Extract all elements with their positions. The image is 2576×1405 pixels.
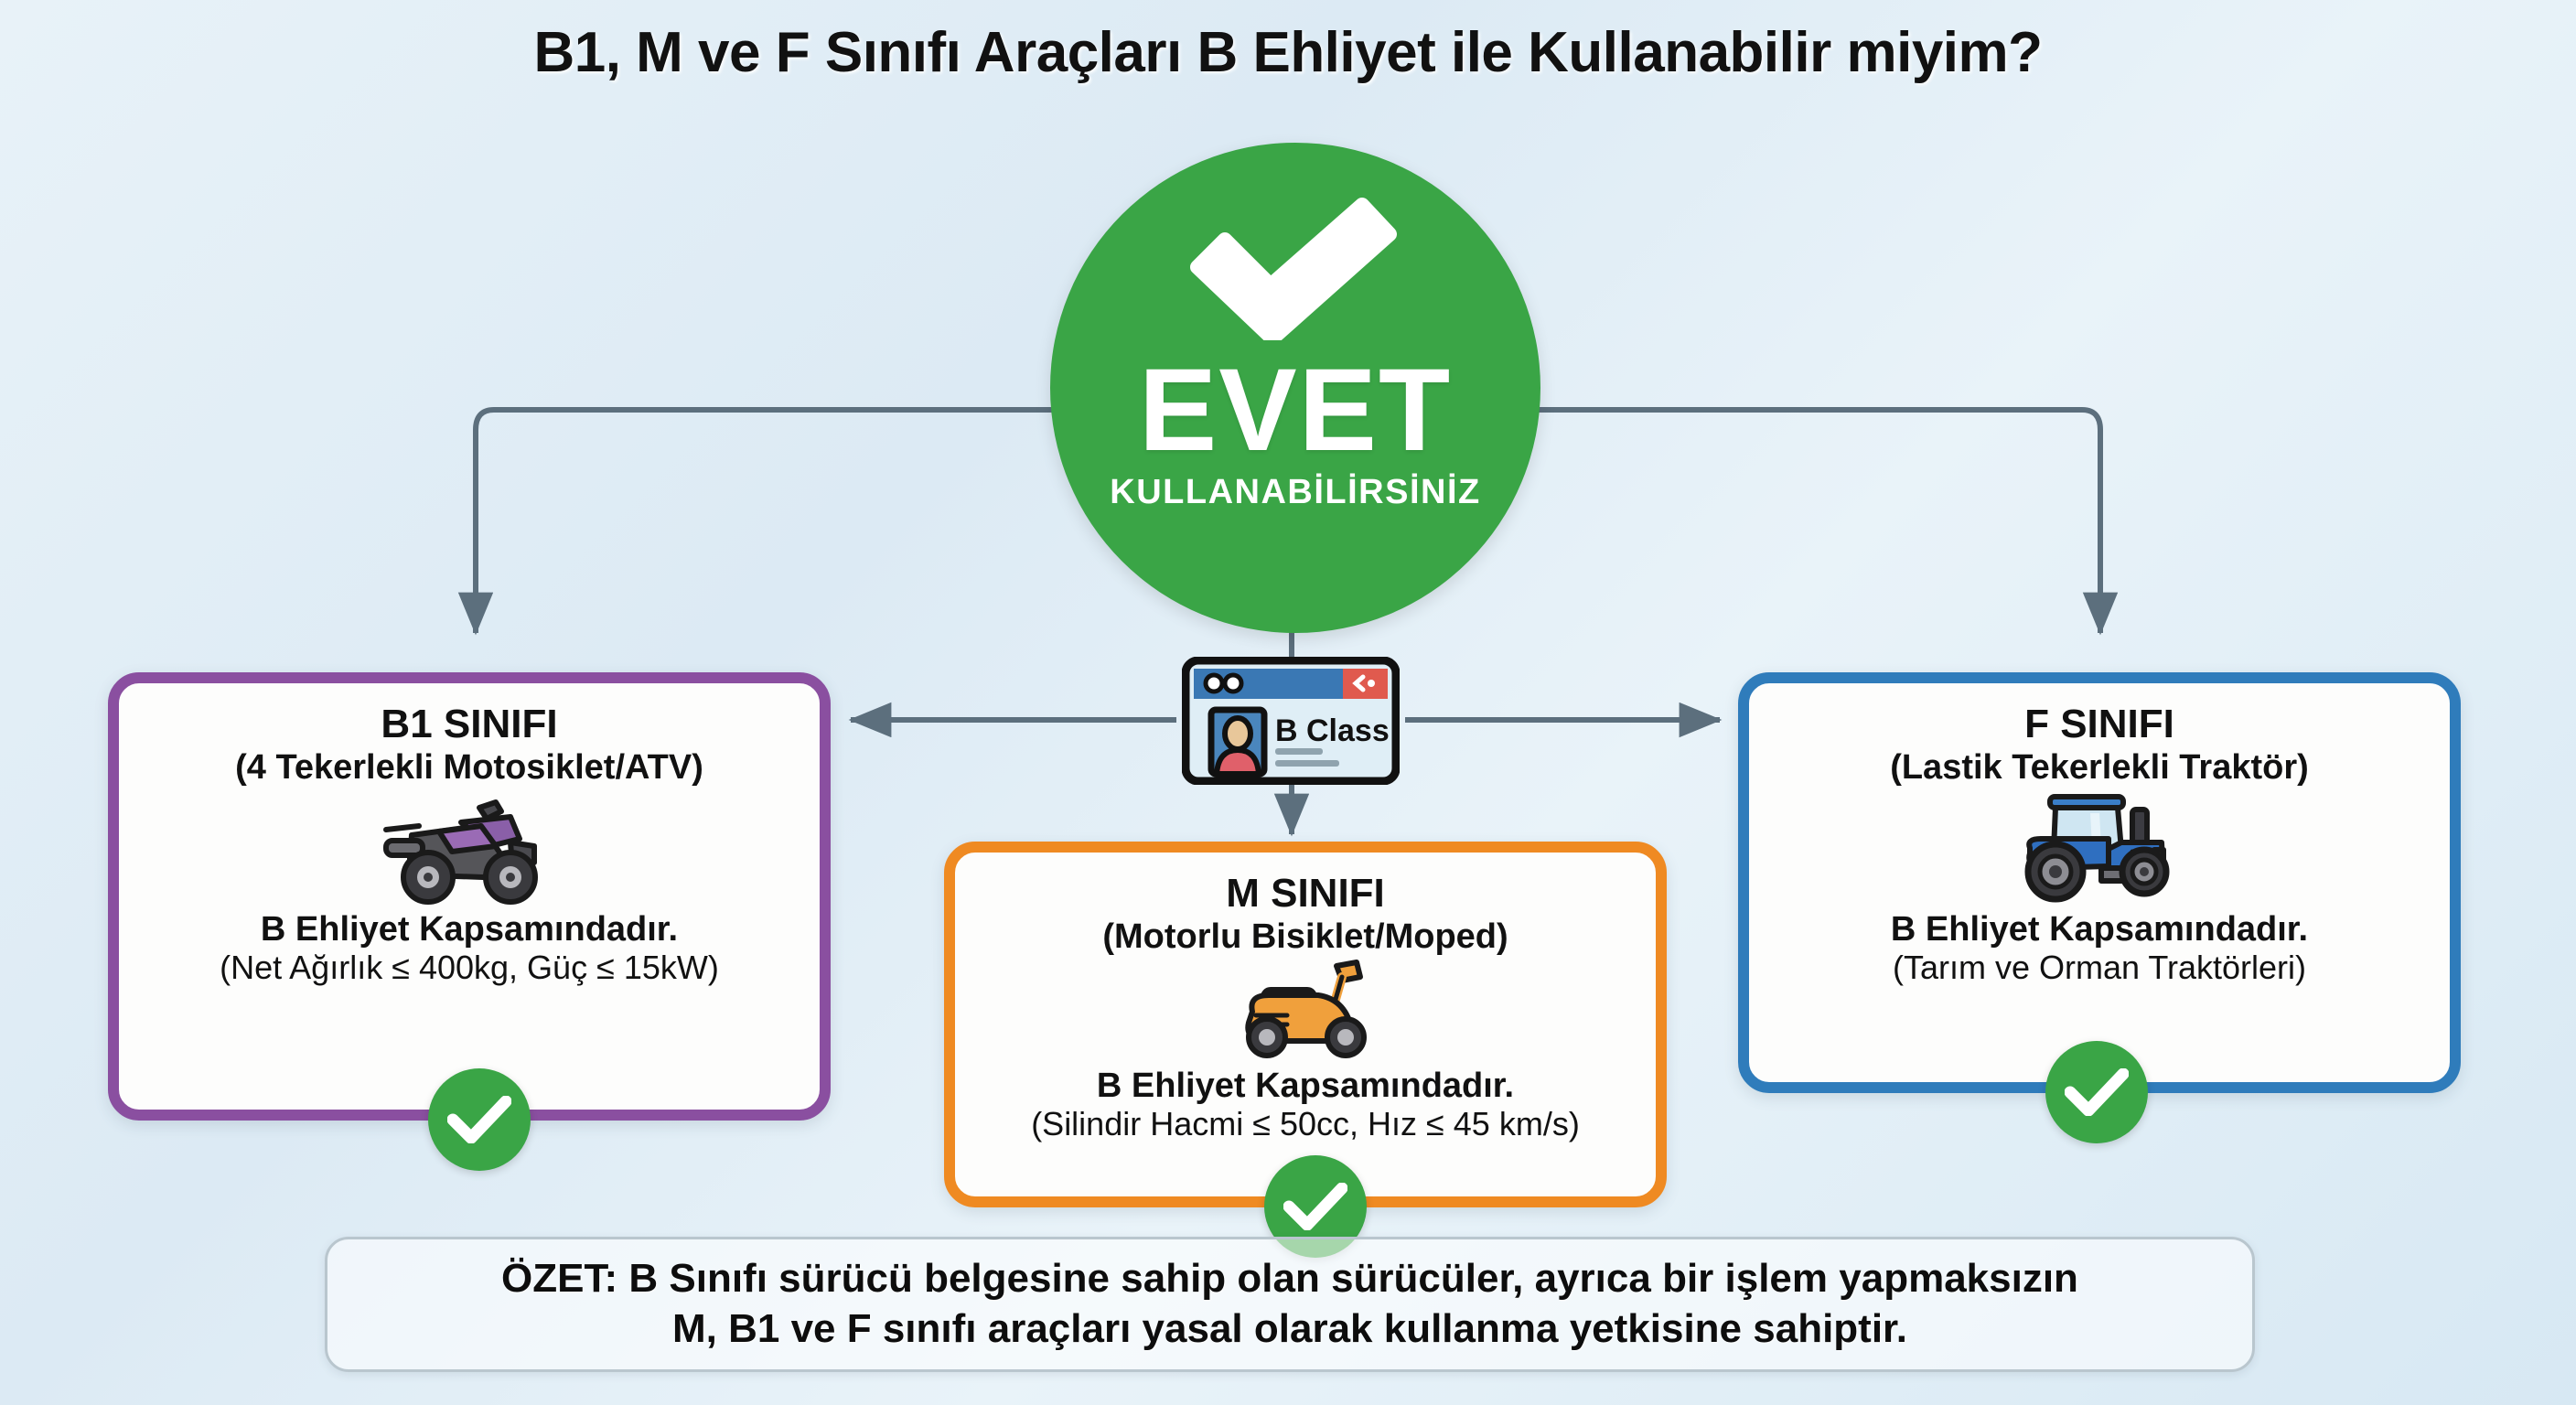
tractor-icon xyxy=(1999,791,2200,906)
card-f[interactable]: F SINIFI (Lastik Tekerlekli Traktör) xyxy=(1738,672,2461,1093)
card-f-art xyxy=(1749,794,2450,902)
checkmark-icon xyxy=(2065,1068,2129,1116)
card-f-detail: (Tarım ve Orman Traktörleri) xyxy=(1749,949,2450,986)
verdict-badge: EVET KULLANABİLİRSİNİZ xyxy=(1050,143,1540,633)
connector-evet-to-b1 xyxy=(476,410,1061,633)
verdict-subtitle: KULLANABİLİRSİNİZ xyxy=(1110,473,1480,512)
license-chip[interactable]: B Class xyxy=(1182,657,1400,785)
status-badge-f xyxy=(2045,1041,2148,1143)
license-chip-label: B Class xyxy=(1275,713,1390,748)
card-b1[interactable]: B1 SINIFI (4 Tekerlekli Motosiklet/ATV) xyxy=(108,672,831,1121)
card-b1-art xyxy=(119,794,820,902)
card-b1-title: B1 SINIFI xyxy=(119,703,820,746)
card-m-art xyxy=(955,960,1656,1058)
checkmark-icon xyxy=(1181,194,1410,340)
card-m[interactable]: M SINIFI (Motorlu Bisiklet/Moped) xyxy=(944,842,1667,1207)
connector-evet-to-f xyxy=(1529,410,2100,633)
summary-line-1: ÖZET: B Sınıfı sürücü belgesine sahip ol… xyxy=(501,1256,2078,1301)
summary-box: ÖZET: B Sınıfı sürücü belgesine sahip ol… xyxy=(325,1237,2255,1372)
card-f-title: F SINIFI xyxy=(1749,703,2450,746)
card-m-note: B Ehliyet Kapsamındadır. xyxy=(955,1067,1656,1106)
infographic-canvas: B1, M ve F Sınıfı Araçları B Ehliyet ile… xyxy=(0,0,2576,1405)
checkmark-icon xyxy=(1283,1183,1347,1230)
summary-line-2: M, B1 ve F sınıfı araçları yasal olarak … xyxy=(672,1306,1907,1351)
card-b1-note: B Ehliyet Kapsamındadır. xyxy=(119,911,820,949)
card-m-subtitle: (Motorlu Bisiklet/Moped) xyxy=(955,917,1656,957)
status-badge-b1 xyxy=(428,1068,531,1171)
scooter-moped-icon xyxy=(1221,959,1390,1059)
card-b1-detail: (Net Ağırlık ≤ 400kg, Güç ≤ 15kW) xyxy=(119,949,820,986)
card-m-title: M SINIFI xyxy=(955,873,1656,916)
card-f-subtitle: (Lastik Tekerlekli Traktör) xyxy=(1749,748,2450,788)
id-card-icon: B Class xyxy=(1182,657,1400,785)
atv-quadbike-icon xyxy=(373,791,565,906)
card-m-detail: (Silindir Hacmi ≤ 50cc, Hız ≤ 45 km/s) xyxy=(955,1106,1656,1142)
verdict-word: EVET xyxy=(1139,353,1452,467)
card-f-note: B Ehliyet Kapsamındadır. xyxy=(1749,911,2450,949)
checkmark-icon xyxy=(447,1096,511,1143)
card-b1-subtitle: (4 Tekerlekli Motosiklet/ATV) xyxy=(119,748,820,788)
